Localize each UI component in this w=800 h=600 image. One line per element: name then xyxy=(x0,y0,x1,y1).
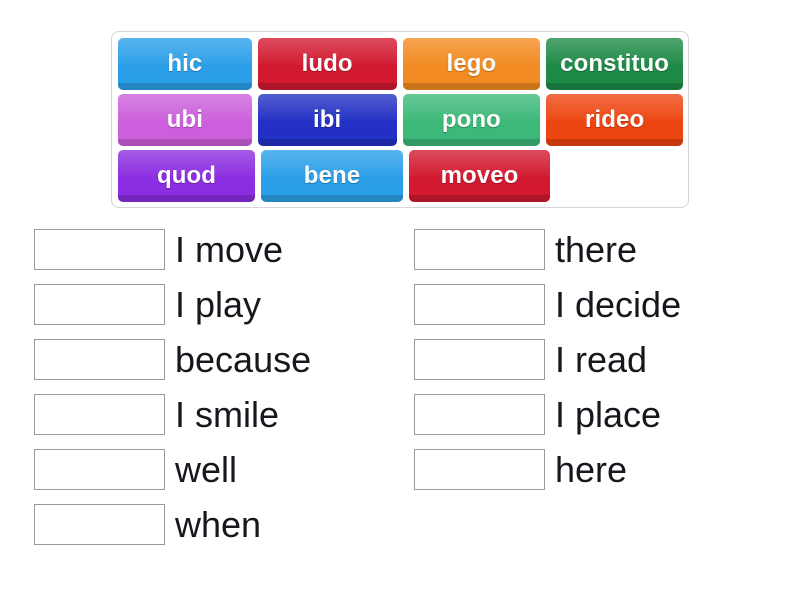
tile-rideo-label: rideo xyxy=(585,106,644,134)
drop-slot[interactable] xyxy=(34,339,165,380)
answer-prompt: I read xyxy=(555,339,647,380)
tile-quod[interactable]: quod xyxy=(118,150,255,202)
drop-slot[interactable] xyxy=(414,284,545,325)
drop-slot[interactable] xyxy=(34,504,165,545)
tile-pono-label: pono xyxy=(442,106,501,134)
answer-prompt: because xyxy=(175,339,311,380)
word-bank-row-1: hic ludo lego constituo xyxy=(118,38,683,93)
tile-lego-label: lego xyxy=(447,50,497,78)
answer-prompt: I smile xyxy=(175,394,279,435)
drop-slot[interactable] xyxy=(414,394,545,435)
answer-prompt: well xyxy=(175,449,237,490)
answer-row: I read xyxy=(414,332,681,387)
answer-prompt: I move xyxy=(175,229,283,270)
drop-slot[interactable] xyxy=(34,449,165,490)
answer-row: because xyxy=(34,332,311,387)
tile-ubi-label: ubi xyxy=(167,106,203,134)
tile-lego[interactable]: lego xyxy=(403,38,541,90)
tile-moveo[interactable]: moveo xyxy=(409,150,550,202)
answer-row: well xyxy=(34,442,311,497)
answer-prompt: I place xyxy=(555,394,661,435)
word-bank-row-3: quod bene moveo xyxy=(118,150,683,205)
tile-hic-label: hic xyxy=(167,50,202,78)
tile-quod-label: quod xyxy=(157,162,216,190)
tile-moveo-label: moveo xyxy=(441,162,519,190)
tile-bene[interactable]: bene xyxy=(261,150,403,202)
tile-ibi[interactable]: ibi xyxy=(258,94,397,146)
tile-ibi-label: ibi xyxy=(313,106,341,134)
answer-row: I decide xyxy=(414,277,681,332)
drop-slot[interactable] xyxy=(34,284,165,325)
answer-prompt: there xyxy=(555,229,637,270)
answer-prompt: I play xyxy=(175,284,261,325)
answer-row: there xyxy=(414,222,681,277)
drop-slot[interactable] xyxy=(34,394,165,435)
tile-hic[interactable]: hic xyxy=(118,38,252,90)
tile-pono[interactable]: pono xyxy=(403,94,541,146)
drop-slot[interactable] xyxy=(414,229,545,270)
answer-prompt: here xyxy=(555,449,627,490)
drop-slot[interactable] xyxy=(34,229,165,270)
tile-rideo[interactable]: rideo xyxy=(546,94,683,146)
answer-prompt: I decide xyxy=(555,284,681,325)
answers-right-column: there I decide I read I place here xyxy=(414,222,681,497)
answer-row: when xyxy=(34,497,311,552)
answer-row: I smile xyxy=(34,387,311,442)
tile-constituo-label: constituo xyxy=(560,50,669,78)
drop-slot[interactable] xyxy=(414,449,545,490)
tile-ubi[interactable]: ubi xyxy=(118,94,252,146)
word-bank-row-2: ubi ibi pono rideo xyxy=(118,94,683,149)
tile-ludo[interactable]: ludo xyxy=(258,38,397,90)
tile-bene-label: bene xyxy=(304,162,360,190)
word-bank-panel: hic ludo lego constituo ubi ibi pono rid… xyxy=(111,31,689,208)
tile-ludo-label: ludo xyxy=(302,50,353,78)
answer-row: here xyxy=(414,442,681,497)
tile-constituo[interactable]: constituo xyxy=(546,38,683,90)
answer-row: I play xyxy=(34,277,311,332)
drop-slot[interactable] xyxy=(414,339,545,380)
answer-prompt: when xyxy=(175,504,261,545)
answer-row: I place xyxy=(414,387,681,442)
answers-left-column: I move I play because I smile well when xyxy=(34,222,311,552)
answer-row: I move xyxy=(34,222,311,277)
